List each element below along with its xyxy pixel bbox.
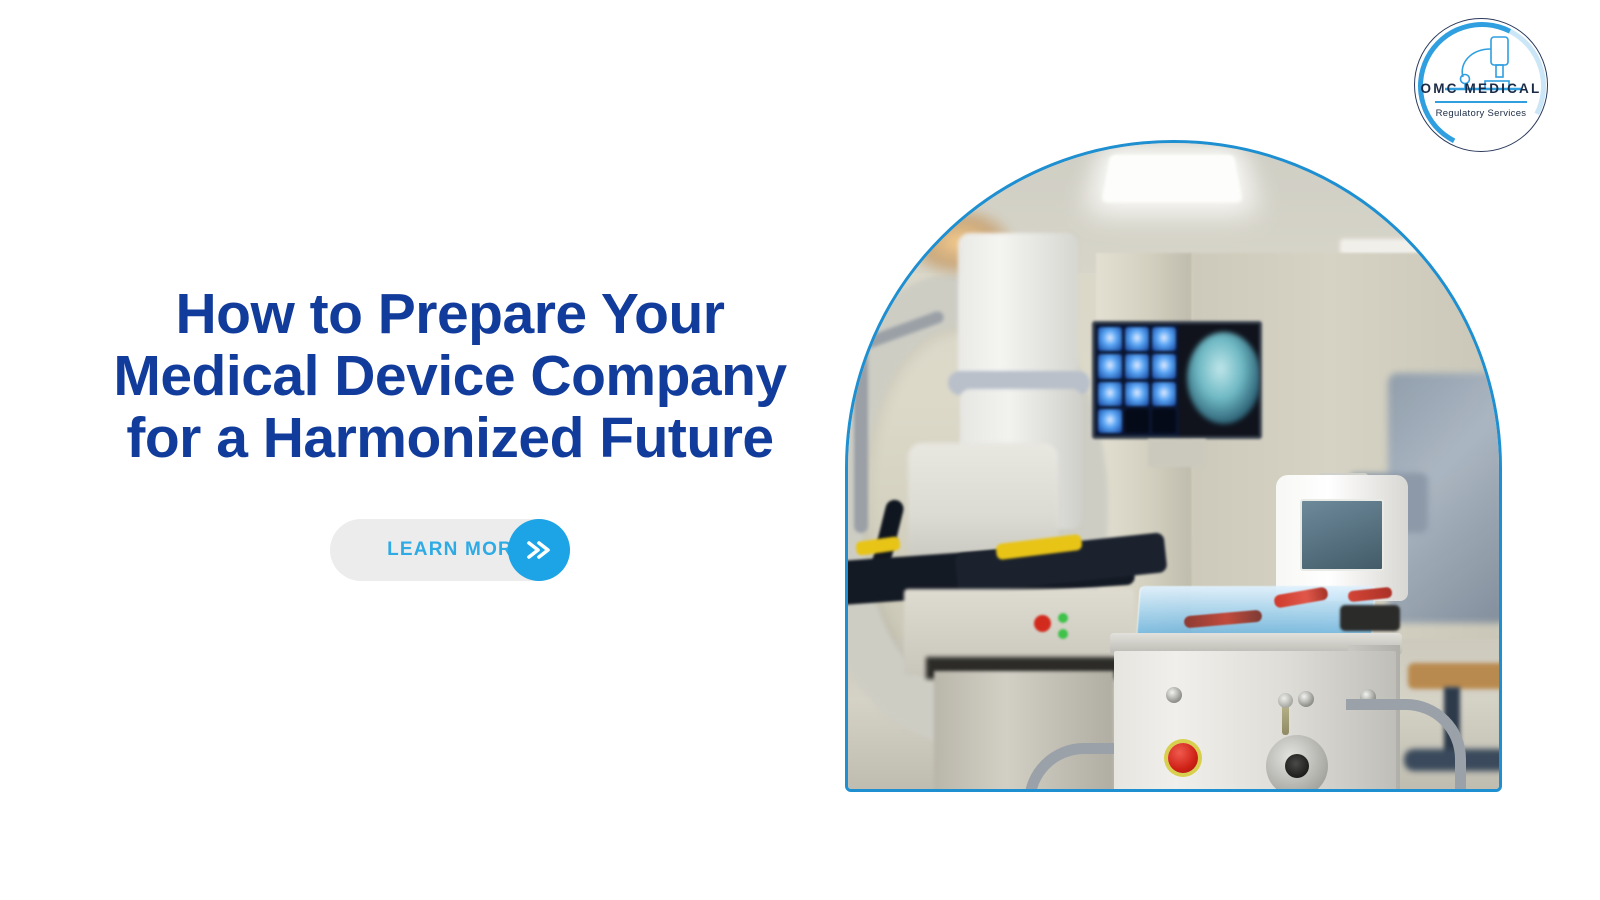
monitor-xray-grid (1095, 324, 1179, 436)
wooden-stool-seat (1408, 663, 1499, 689)
cart-key-switch (1282, 703, 1289, 735)
emergency-stop-button (1168, 743, 1198, 773)
table-red-button (1034, 615, 1051, 632)
omc-medical-logo[interactable]: OMC MEDICAL Regulatory Services (1414, 18, 1548, 152)
headline-line-3: for a Harmonized Future (60, 407, 840, 469)
cart-connector-port (1266, 735, 1328, 789)
c-arm-rail (854, 333, 868, 533)
table-green-indicator-1 (1058, 613, 1068, 623)
monitor-scan-image (1187, 332, 1261, 424)
learn-more-button[interactable]: LEARN MORE (330, 519, 570, 581)
tray-dark-module (1340, 605, 1400, 631)
table-green-indicator-2 (1058, 629, 1068, 639)
hero-image-frame (845, 140, 1502, 792)
monitor-stand (1148, 439, 1206, 467)
double-chevron-right-icon[interactable] (508, 519, 570, 581)
logo-wordmark: OMC MEDICAL (1415, 81, 1547, 96)
c-arm-detector-head (958, 233, 1078, 383)
headline-line-2: Medical Device Company (60, 345, 840, 407)
wall-monitor (1092, 321, 1262, 439)
promo-banner: OMC MEDICAL Regulatory Services How to P… (0, 0, 1600, 900)
headline-line-1: How to Prepare Your (60, 283, 840, 345)
operating-room-photo (848, 143, 1499, 789)
ceiling-light-panel (1101, 155, 1243, 203)
cart-screw-top-left (1166, 687, 1182, 703)
logo-tagline: Regulatory Services (1415, 108, 1547, 119)
page-title: How to Prepare Your Medical Device Compa… (60, 283, 840, 469)
logo-divider (1435, 101, 1527, 103)
cart-screw-top-right (1298, 691, 1314, 707)
cart-monitor-screen (1300, 499, 1384, 571)
